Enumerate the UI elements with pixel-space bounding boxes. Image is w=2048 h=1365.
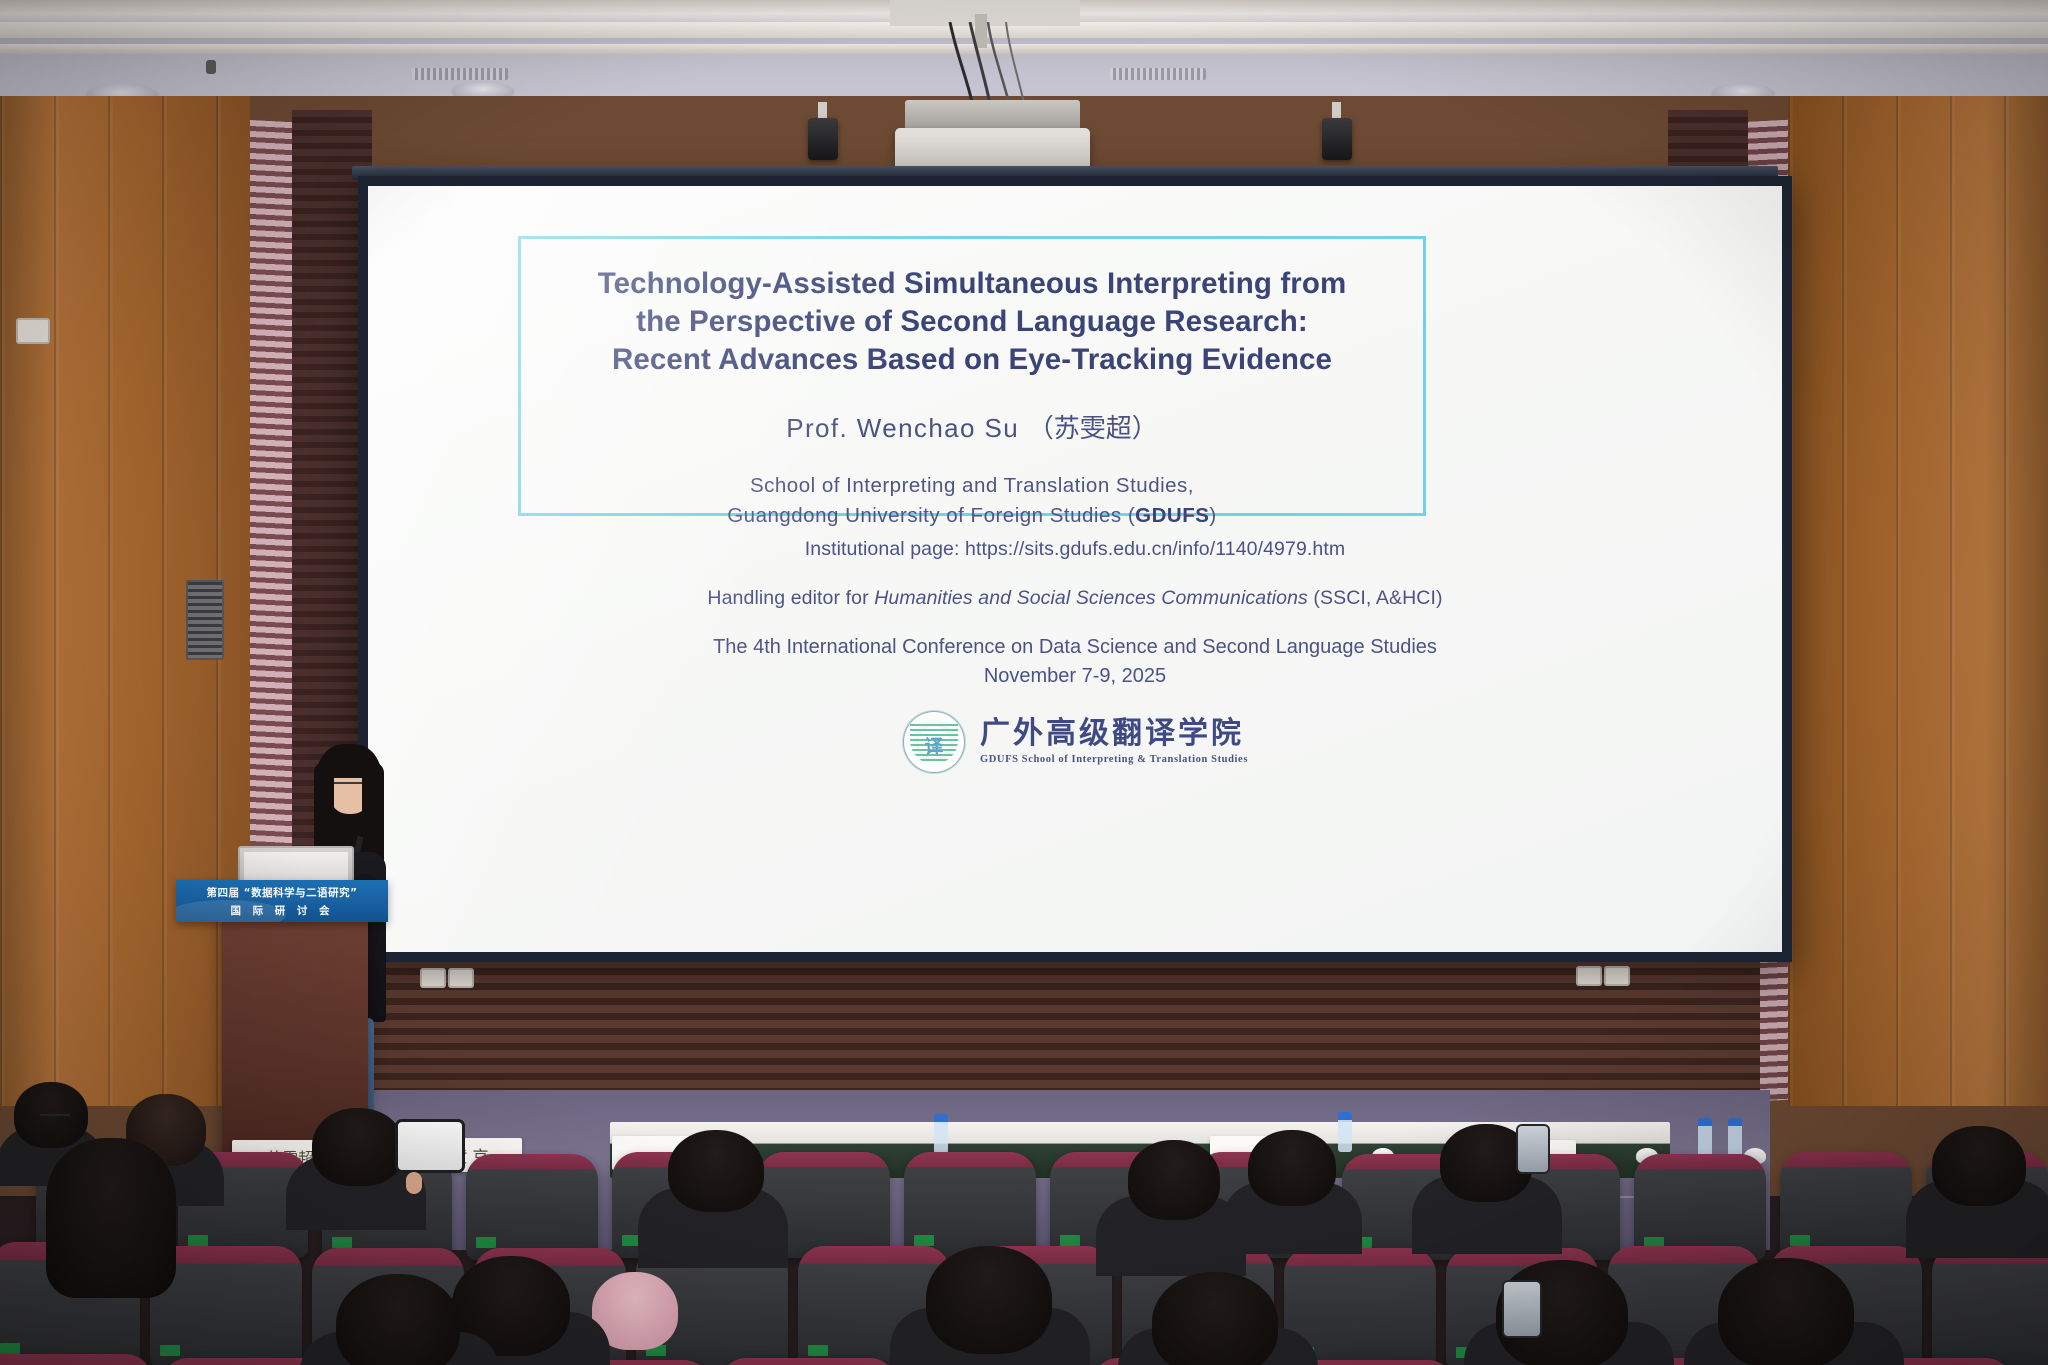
seat <box>720 1358 896 1365</box>
seat <box>1932 1246 2048 1365</box>
seat-number-tag <box>160 1345 180 1356</box>
slide-footer-logo: 译 广外高级翻译学院 GDUFS School of Interpreting … <box>368 710 1782 774</box>
seat <box>904 1152 1036 1258</box>
attendee-phone[interactable] <box>1518 1126 1548 1172</box>
conference-date: November 7-9, 2025 <box>368 662 1782 691</box>
author-name-en: Prof. Wenchao Su <box>786 413 1019 443</box>
slide-title-line-3: Recent Advances Based on Eye-Tracking Ev… <box>612 341 1332 379</box>
attendee-head <box>1248 1130 1336 1206</box>
logo-chinese-name: 广外高级翻译学院 <box>980 719 1244 749</box>
presentation-slide: Technology-Assisted Simultaneous Interpr… <box>368 186 1782 952</box>
attendee-head <box>336 1274 460 1365</box>
projection-screen: Technology-Assisted Simultaneous Interpr… <box>368 186 1782 952</box>
wall-outlet[interactable] <box>420 968 446 988</box>
seat-number-tag <box>914 1235 934 1246</box>
seat-number-tag <box>476 1237 496 1248</box>
attendee-head <box>926 1246 1052 1354</box>
affiliation-prefix: Guangdong University of Foreign Studies … <box>727 504 1135 527</box>
ceiling-speaker-right <box>1322 118 1352 160</box>
gdufs-sits-logo-icon: 译 <box>902 710 966 774</box>
attendee-hand <box>406 1172 422 1194</box>
attendee-head <box>1932 1126 2026 1206</box>
attendee-head <box>1152 1272 1278 1365</box>
attendee-tablet[interactable] <box>398 1122 462 1170</box>
journal-name: Humanities and Social Sciences Communica… <box>874 587 1308 609</box>
affiliation-line-1: School of Interpreting and Translation S… <box>727 471 1217 501</box>
seat <box>1780 1152 1912 1258</box>
wall-outlet[interactable] <box>448 968 474 988</box>
ceiling-air-vent <box>1110 68 1206 80</box>
affiliation-acronym: GDUFS <box>1135 504 1209 527</box>
seat-number-tag <box>332 1237 352 1248</box>
logo-text-block: 广外高级翻译学院 GDUFS School of Interpreting & … <box>980 719 1248 765</box>
seat-number-tag <box>188 1235 208 1246</box>
attendee-head <box>668 1130 764 1212</box>
slide-title-line-1: Technology-Assisted Simultaneous Interpr… <box>598 265 1347 303</box>
logo-english-name: GDUFS School of Interpreting & Translati… <box>980 754 1248 765</box>
wall-outlet[interactable] <box>16 318 50 344</box>
seat-number-tag <box>0 1343 20 1354</box>
wood-panel-right <box>1788 96 2048 1106</box>
ceiling-sprinkler <box>206 60 216 74</box>
conference-title: The 4th International Conference on Data… <box>368 633 1782 662</box>
attendee-phone[interactable] <box>1504 1282 1540 1336</box>
author-name-cn: （苏雯超） <box>1028 413 1158 443</box>
attendee-glasses <box>40 1114 70 1124</box>
conference-podium-banner: 第四届 “数据科学与二语研究” 国 际 研 讨 会 <box>176 880 388 922</box>
seat-number-tag <box>1060 1235 1080 1246</box>
audience-seating <box>0 1096 2048 1365</box>
editor-prefix: Handling editor for <box>707 587 874 609</box>
seat <box>1634 1154 1766 1260</box>
affiliation-line-2: Guangdong University of Foreign Studies … <box>727 501 1217 531</box>
seat <box>0 1354 152 1365</box>
banner-line-2: 国 际 研 讨 会 <box>230 903 333 918</box>
attendee-head-long-hair <box>46 1138 176 1298</box>
attendee-head <box>312 1108 404 1186</box>
seat-number-tag <box>808 1345 828 1356</box>
attendee-head <box>1718 1258 1854 1365</box>
projection-screen-frame: Technology-Assisted Simultaneous Interpr… <box>358 176 1792 962</box>
wall-outlet[interactable] <box>1576 966 1602 986</box>
editor-suffix: (SSCI, A&HCI) <box>1308 587 1443 609</box>
slide-meta: Institutional page: https://sits.gdufs.e… <box>368 538 1782 636</box>
slide-conference-info: The 4th International Conference on Data… <box>368 633 1782 691</box>
seat <box>466 1154 598 1260</box>
wall-louver-left <box>186 580 224 660</box>
slide-affiliation: School of Interpreting and Translation S… <box>727 471 1217 530</box>
slide-title-box: Technology-Assisted Simultaneous Interpr… <box>518 236 1426 516</box>
affiliation-suffix: ) <box>1209 504 1216 527</box>
ceiling-air-vent <box>412 68 508 80</box>
ceiling-speaker-left <box>808 118 838 160</box>
seat-number-tag <box>1790 1235 1810 1246</box>
logo-monogram: 译 <box>918 736 950 760</box>
slide-title-line-2: the Perspective of Second Language Resea… <box>636 303 1308 341</box>
wall-outlet[interactable] <box>1604 966 1630 986</box>
attendee-head <box>1128 1140 1220 1220</box>
slide-author: Prof. Wenchao Su （苏雯超） <box>786 408 1158 445</box>
handling-editor-line: Handling editor for Humanities and Socia… <box>368 587 1782 610</box>
lecture-hall-photo: Technology-Assisted Simultaneous Interpr… <box>0 0 2048 1365</box>
institutional-page-line: Institutional page: https://sits.gdufs.e… <box>368 538 1782 561</box>
banner-line-1: 第四届 “数据科学与二语研究” <box>207 885 358 900</box>
